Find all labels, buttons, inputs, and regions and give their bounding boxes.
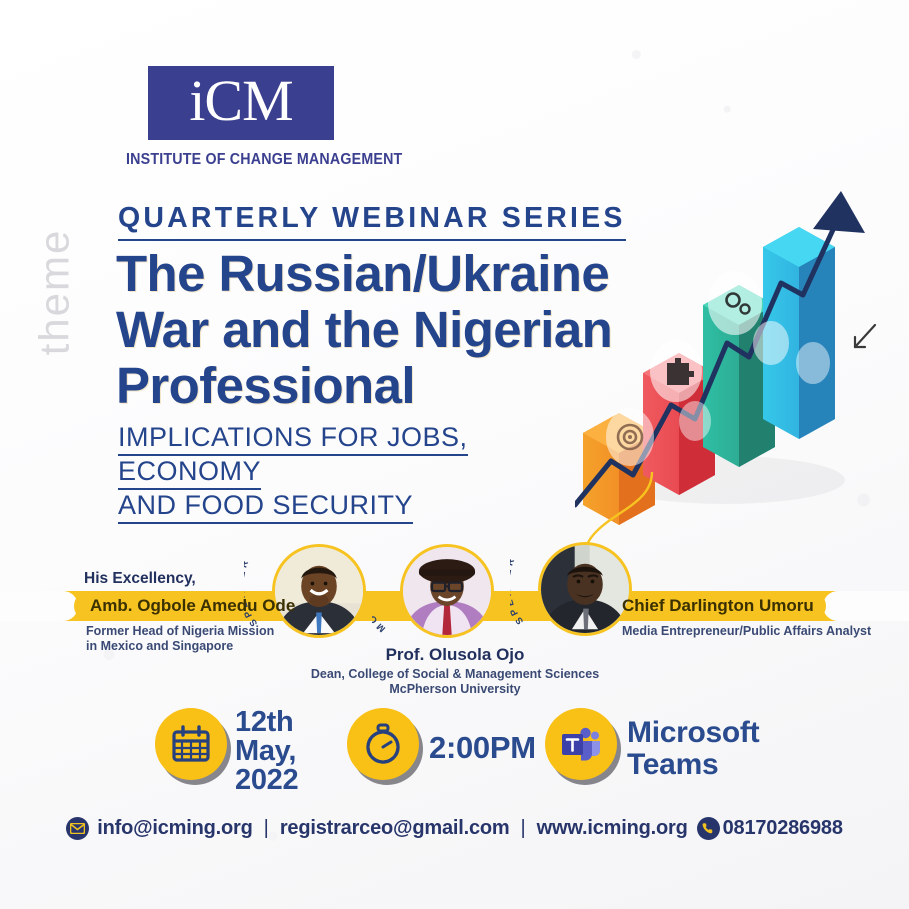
brand-logo: iCM INSTITUTE OF CHANGE MANAGEMENT bbox=[126, 66, 426, 169]
kicker-text: QUARTERLY WEBINAR SERIES bbox=[118, 202, 626, 241]
moderator-title: Dean, College of Social & Management Sci… bbox=[300, 667, 610, 697]
speaker-2-avatar-wrap: SPEAKER bbox=[538, 542, 632, 636]
event-platform: Microsoft Teams bbox=[627, 717, 759, 781]
speaker-1-title-line-2: in Mexico and Singapore bbox=[86, 639, 274, 654]
avatar bbox=[272, 544, 366, 638]
speaker-1-title-line-1: Former Head of Nigeria Mission bbox=[86, 624, 274, 639]
badge-puzzle bbox=[651, 341, 701, 401]
date-line-1: 12th bbox=[235, 708, 298, 737]
date-line-3: 2022 bbox=[235, 766, 298, 795]
speaker-1-honorific: His Excellency, bbox=[84, 570, 196, 588]
envelope-icon bbox=[66, 817, 89, 840]
contact-website[interactable]: www.icming.org bbox=[537, 817, 688, 840]
speaker-1-name: Amb. Ogbole Amedu Ode bbox=[90, 596, 295, 616]
footer-separator-2: | bbox=[520, 817, 525, 840]
contact-phone[interactable]: 08170286988 bbox=[723, 817, 843, 840]
contact-email-2[interactable]: registrarceo@gmail.com bbox=[280, 817, 510, 840]
date-line-2: May, bbox=[235, 737, 298, 766]
microsoft-teams-icon bbox=[545, 708, 617, 780]
badge-blank-3 bbox=[797, 343, 829, 383]
badge-gear bbox=[709, 272, 761, 334]
phone-icon bbox=[697, 817, 720, 840]
speaker-1-avatar-wrap: SPEAKER bbox=[272, 544, 366, 638]
arrow-head-icon bbox=[813, 191, 865, 233]
event-date: 12th May, 2022 bbox=[235, 708, 298, 795]
flyer-canvas: iCM INSTITUTE OF CHANGE MANAGEMENT theme… bbox=[0, 0, 909, 909]
moderator-name: Prof. Olusola Ojo bbox=[320, 645, 590, 665]
badge-blank-2 bbox=[680, 402, 710, 440]
subtitle: IMPLICATIONS FOR JOBS, ECONOMY AND FOOD … bbox=[118, 420, 618, 522]
speaker-1-title: Former Head of Nigeria Mission in Mexico… bbox=[86, 624, 274, 654]
logo-mark-text: iCM bbox=[189, 72, 292, 130]
stopwatch-icon bbox=[347, 708, 419, 780]
speaker-2-title-line-1: Media Entrepreneur/Public Affairs Analys… bbox=[622, 624, 871, 639]
subtitle-line-1: IMPLICATIONS FOR JOBS, ECONOMY bbox=[118, 422, 468, 490]
calendar-icon bbox=[155, 708, 227, 780]
subtitle-line-2: AND FOOD SECURITY bbox=[118, 490, 413, 524]
avatar bbox=[538, 542, 632, 636]
badge-target bbox=[607, 409, 653, 465]
moderator-avatar-wrap: MODERATOR bbox=[400, 544, 494, 638]
contact-email-1[interactable]: info@icming.org bbox=[97, 817, 252, 840]
contact-footer: info@icming.org | registrarceo@gmail.com… bbox=[0, 806, 909, 850]
avatar bbox=[400, 544, 494, 638]
platform-line-1: Microsoft bbox=[627, 717, 759, 749]
event-details-row: 12th May, 2022 2:00PM bbox=[0, 700, 909, 805]
cursor-arrow-icon bbox=[855, 325, 875, 347]
logo-subtitle: INSTITUTE OF CHANGE MANAGEMENT bbox=[126, 151, 402, 169]
moderator-title-line-2: McPherson University bbox=[300, 682, 610, 697]
badge-blank-1 bbox=[754, 322, 788, 364]
logo-mark: iCM bbox=[148, 66, 334, 140]
moderator-title-line-1: Dean, College of Social & Management Sci… bbox=[300, 667, 610, 682]
theme-vertical-label: theme bbox=[30, 229, 78, 356]
footer-separator-1: | bbox=[264, 817, 269, 840]
speaker-2-name: Chief Darlington Umoru bbox=[622, 596, 814, 616]
event-time: 2:00PM bbox=[429, 730, 536, 766]
speaker-2-title: Media Entrepreneur/Public Affairs Analys… bbox=[622, 624, 871, 639]
platform-line-2: Teams bbox=[627, 749, 759, 781]
